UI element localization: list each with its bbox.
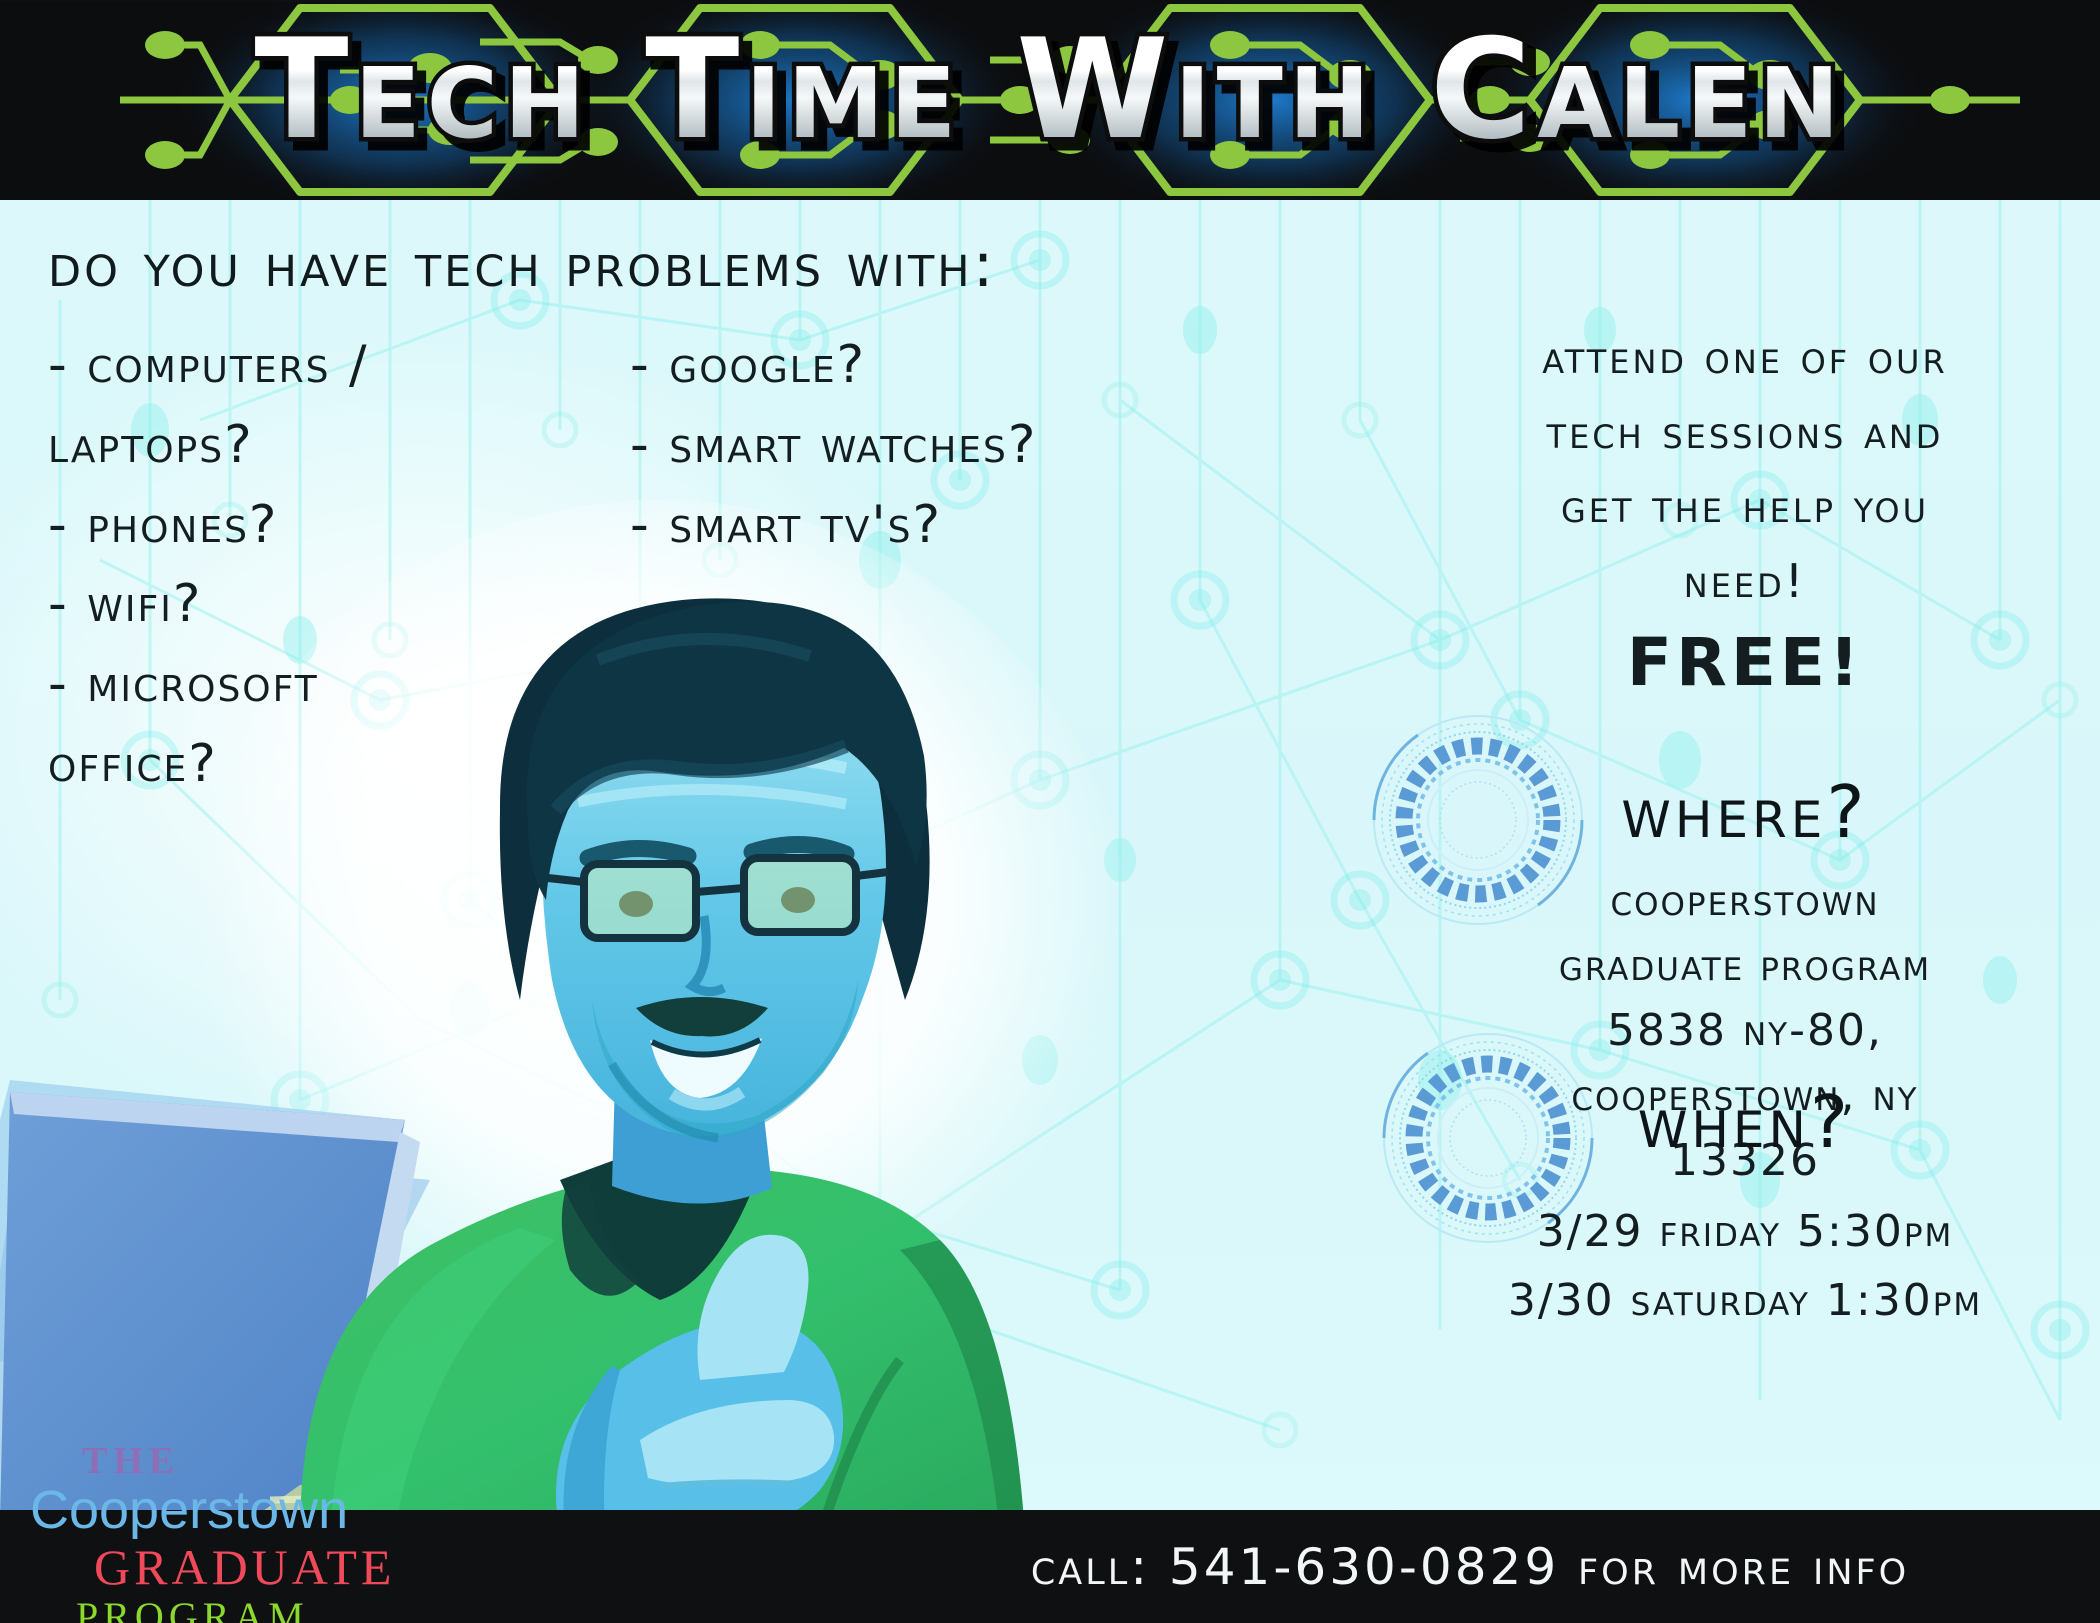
- header-banner: Tech Time With Calen: [0, 0, 2100, 200]
- address-line: Cooperstown: [1420, 868, 2070, 933]
- address-line: 5838 NY-80,: [1420, 998, 2070, 1063]
- session-date: 3/30 Saturday 1:30pm: [1420, 1267, 2070, 1336]
- address-line: Graduate Program: [1420, 933, 2070, 998]
- list-item: - Computers /: [48, 330, 628, 402]
- free-badge: FREE!: [1420, 624, 2070, 701]
- list-item: - Google?: [630, 330, 1310, 402]
- callout-line: tech sessions and: [1420, 395, 2070, 470]
- logo-line-program: PROGRAM: [30, 1595, 430, 1623]
- page-title: Do you have tech problems with:: [48, 228, 996, 301]
- footer-bar: THE Cooperstown GRADUATE PROGRAM Call: 5…: [0, 1510, 2100, 1623]
- list-item: - Phones?: [48, 490, 628, 562]
- problems-list-right: - Google? - Smart Watches? - Smart TV's?: [630, 330, 1310, 569]
- logo-line-graduate: GRADUATE: [30, 1540, 430, 1595]
- session-date: 3/29 Friday 5:30pm: [1420, 1198, 2070, 1267]
- poster-title: Tech Time With Calen: [0, 0, 2100, 200]
- logo-line-the: THE: [30, 1442, 430, 1480]
- callout-line: get the help you: [1420, 469, 2070, 544]
- main-content: Do you have tech problems with: - Comput…: [0, 200, 2100, 1510]
- list-item: - Wifi?: [48, 569, 628, 641]
- session-dates: 3/29 Friday 5:30pm 3/30 Saturday 1:30pm: [1420, 1198, 2070, 1335]
- list-item: - Smart Watches?: [630, 410, 1310, 482]
- list-item: Office?: [48, 729, 628, 801]
- cgp-logo: THE Cooperstown GRADUATE PROGRAM: [30, 1442, 430, 1623]
- list-item: - Smart TV's?: [630, 490, 1310, 562]
- poster-flyer: Tech Time With Calen: [0, 0, 2100, 1623]
- list-item: - Microsoft: [48, 649, 628, 721]
- call-to-action-text: Call: 541-630-0829 for more info: [880, 1538, 2060, 1596]
- callout-line: need!: [1420, 544, 2070, 619]
- logo-line-cooperstown: Cooperstown: [30, 1480, 430, 1540]
- footer-wedge-decoration: [0, 0, 420, 2]
- when-title: When?: [1638, 1080, 1852, 1164]
- svg-text:Tech Time With Calen: Tech Time With Calen: [254, 25, 1845, 170]
- callout-block: attend one of our tech sessions and get …: [1420, 320, 2070, 701]
- callout-line: attend one of our: [1420, 320, 2070, 395]
- problems-list-left: - Computers / Laptops? - Phones? - Wifi?…: [48, 330, 628, 809]
- where-title: Where?: [1621, 770, 1868, 854]
- list-item: Laptops?: [48, 410, 628, 482]
